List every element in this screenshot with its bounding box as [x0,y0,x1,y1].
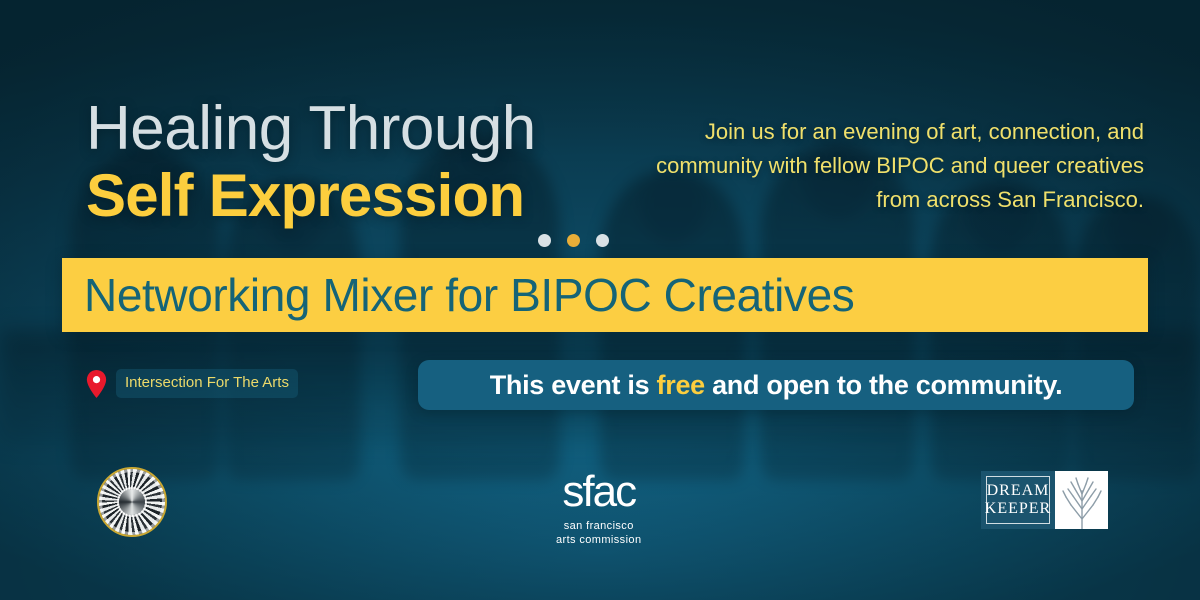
event-description: Join us for an evening of art, connectio… [624,115,1144,217]
decorative-dot-2 [567,234,580,247]
headline-line-2: Self Expression [86,164,706,228]
decorative-dot-3 [596,234,609,247]
dream-keeper-word-1: DREAM [987,482,1050,500]
subtitle-text: Networking Mixer for BIPOC Creatives [84,270,854,320]
sfac-wordmark: sfac [556,470,641,514]
dream-keeper-logo: DREAM KEEPER [981,471,1108,529]
free-text-suffix: and open to the community. [705,370,1062,400]
sfac-subtitle-line-1: san francisco [556,519,641,533]
venue-name: Intersection For The Arts [116,369,298,398]
dream-keeper-word-2: KEEPER [985,500,1051,518]
free-text-highlight: free [657,370,705,400]
sfac-subtitle-line-2: arts commission [556,533,641,547]
decorative-dots [538,234,609,247]
headline-block: Healing Through Self Expression [86,96,706,228]
dream-keeper-wordmark: DREAM KEEPER [981,471,1055,529]
venue-block: Intersection For The Arts [86,369,298,398]
decorative-dot-1 [538,234,551,247]
location-pin-icon [86,370,107,398]
event-flyer: Healing Through Self Expression Join us … [0,0,1200,600]
free-admission-banner: This event is free and open to the commu… [418,360,1134,410]
sfac-logo: sfac san francisco arts commission [556,470,641,547]
free-text-prefix: This event is [490,370,657,400]
headline-line-1: Healing Through [86,96,706,162]
subtitle-banner: Networking Mixer for BIPOC Creatives [62,258,1148,332]
branch-illustration-icon [1055,471,1108,529]
free-admission-text: This event is free and open to the commu… [490,370,1063,400]
spiral-seal-logo [97,467,167,537]
